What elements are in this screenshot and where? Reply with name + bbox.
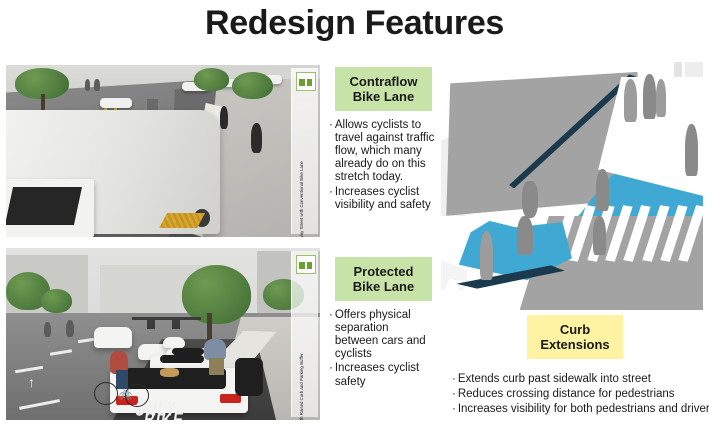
list-item: · Increases visibility for both pedestri… <box>452 403 704 416</box>
list-item: · Offers physical separation between car… <box>329 309 435 361</box>
contraflow-bullet-list: · Allows cyclists to travel against traf… <box>329 119 435 213</box>
list-item: · Increases cyclist visibility and safet… <box>329 186 435 212</box>
pedestrian-figure <box>220 106 229 128</box>
contraflow-label-line1: Contraflow <box>350 74 418 89</box>
traffic-signal-head <box>147 319 155 329</box>
moving-car <box>100 98 131 108</box>
bullet-marker: · <box>329 186 333 212</box>
bullet-text: Increases cyclist visibility and safety <box>335 186 435 212</box>
traffic-signal-head <box>172 319 180 329</box>
dog-figure <box>160 368 179 377</box>
delivery-truck-windshield <box>6 187 82 225</box>
list-item: · Allows cyclists to travel against traf… <box>329 119 435 185</box>
protected-bike-lane-rendering: ↑ 🚲 ONLY BIKE Cycle Tracks One-Way Prote… <box>6 248 320 420</box>
bullet-text: Allows cyclists to travel against traffi… <box>335 119 435 185</box>
slide-root: Redesign Features ↑ 🚲 <box>0 0 709 430</box>
bullet-marker: · <box>452 403 456 416</box>
curb-extensions-bullet-list: · Extends curb past sidewalk into street… <box>452 373 704 418</box>
bullet-marker: · <box>329 119 333 185</box>
cycle-track-arrow-marking: ↑ <box>28 375 35 389</box>
image-caption-text: Bike Lanes Contra-flow Bicycle Lane on O… <box>293 155 305 237</box>
pedestrian-figure <box>643 74 656 119</box>
pedestrian-figure <box>656 79 666 116</box>
pedestrian-figure <box>517 216 533 256</box>
curb-label-line1: Curb <box>540 322 609 337</box>
protected-bike-lane-label: Protected Bike Lane <box>335 257 432 301</box>
protected-label-line1: Protected <box>353 264 414 279</box>
bicycle-wheel <box>94 382 118 405</box>
pedestrian-figure <box>94 79 100 91</box>
protected-bullet-list: · Offers physical separation between car… <box>329 309 435 390</box>
pedestrian-figure <box>66 320 74 337</box>
bullet-marker: · <box>452 373 456 386</box>
pedestrian-figure <box>251 123 262 152</box>
image-caption-strip: Cycle Tracks One-Way Protected Cycle Tra… <box>291 251 318 417</box>
bullet-marker: · <box>329 309 333 361</box>
image-caption-subtitle: One-Way Protected Cycle Track with Raise… <box>299 353 304 420</box>
page-title: Redesign Features <box>0 4 709 43</box>
bullet-text: Extends curb past sidewalk into street <box>458 373 651 386</box>
pedestrian-figure <box>685 124 698 176</box>
pedestrian-figure <box>624 79 637 121</box>
nacto-logo-icon <box>296 255 316 274</box>
curb-extensions-diagram <box>441 62 703 310</box>
contraflow-bike-lane-rendering: ↑ 🚲 Bike Lanes <box>6 65 320 237</box>
pedestrian-figure <box>204 339 226 360</box>
list-item: · Reduces crossing distance for pedestri… <box>452 388 704 401</box>
pedestrian-figure <box>44 322 51 337</box>
parked-car-roof <box>160 355 204 364</box>
pedestrian-figure <box>480 231 493 281</box>
image-caption-text: Cycle Tracks One-Way Protected Cycle Tra… <box>293 338 305 420</box>
curb-extensions-label: Curb Extensions <box>527 315 623 359</box>
list-item: · Extends curb past sidewalk into street <box>452 373 704 386</box>
cyclist-figure <box>522 181 538 218</box>
street-tree <box>194 68 229 90</box>
pedestrian-figure <box>596 169 609 211</box>
box-truck <box>94 327 132 348</box>
street-tree <box>41 289 72 313</box>
traffic-signal-mast-arm <box>132 317 201 320</box>
side-mirror-post <box>235 358 263 396</box>
image-caption-subtitle: Contra-flow Bicycle Lane on One-Way Stre… <box>299 161 304 237</box>
list-item: · Increases cyclist safety <box>329 362 435 388</box>
bullet-text: Offers physical separation between cars … <box>335 309 435 361</box>
protected-label-line2: Bike Lane <box>353 279 414 294</box>
bullet-marker: · <box>452 388 456 401</box>
nacto-logo-icon <box>296 72 316 91</box>
street-tree <box>232 72 273 100</box>
street-tree <box>182 265 251 323</box>
image-caption-strip: Bike Lanes Contra-flow Bicycle Lane on O… <box>291 68 318 234</box>
pedestrian-figure <box>593 216 606 256</box>
car-distant <box>163 337 185 347</box>
bullet-text: Increases visibility for both pedestrian… <box>458 403 709 416</box>
bicycle-wheel <box>125 384 149 407</box>
bullet-marker: · <box>329 362 333 388</box>
pedestrian-lower-body <box>209 358 225 375</box>
parked-car-roof <box>172 348 203 355</box>
tree-trunk <box>41 94 46 111</box>
pavement-marking-bike: BIKE <box>143 409 186 420</box>
cyclist-legs <box>116 370 129 389</box>
curb-label-line2: Extensions <box>540 337 609 352</box>
contraflow-label-line2: Bike Lane <box>350 89 418 104</box>
bullet-text: Reduces crossing distance for pedestrian… <box>458 388 675 401</box>
bullet-text: Increases cyclist safety <box>335 362 435 388</box>
contraflow-bike-lane-label: Contraflow Bike Lane <box>335 67 432 111</box>
pedestrian-figure <box>85 79 91 91</box>
